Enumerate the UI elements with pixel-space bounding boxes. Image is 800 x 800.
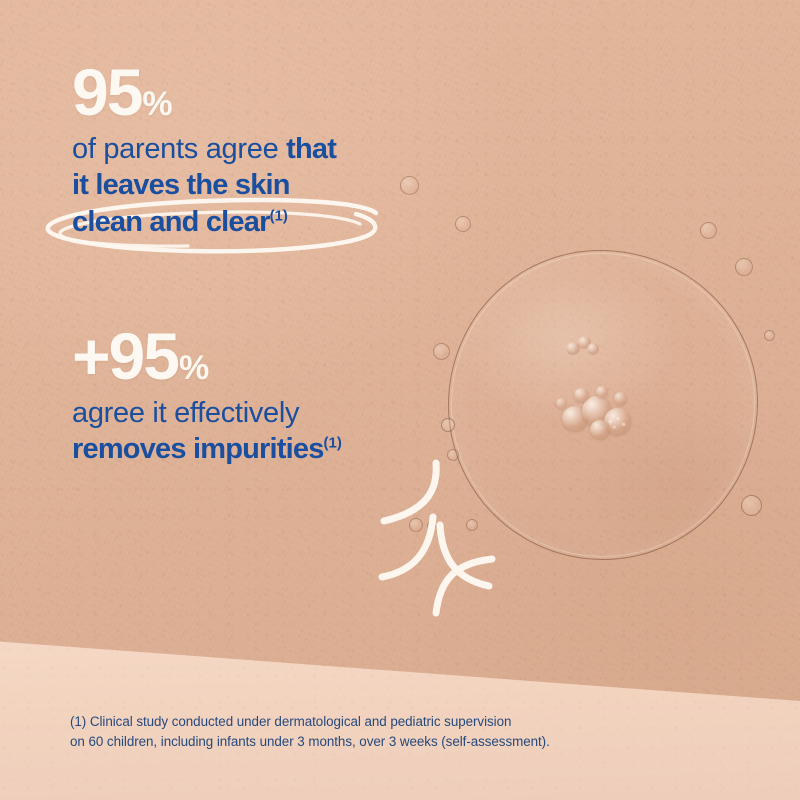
claim-2-line-1-regular: agree it effectively [72, 397, 299, 429]
bubble-icon [447, 449, 459, 461]
bubble-icon [455, 216, 471, 232]
foam-bubble-cluster-small [566, 336, 600, 358]
bubble-icon [409, 518, 423, 532]
claim-2-line-2-bold: removes impurities [72, 433, 324, 465]
claim-1-text: of parents agree that it leaves the skin… [72, 131, 336, 241]
claim-2-text: agree it effectively removes impurities(… [72, 395, 342, 468]
bubble-icon [466, 519, 478, 531]
claim-1-stat-percent: % [142, 89, 171, 120]
droplet-edge-bead-left [441, 418, 455, 432]
claim-2-footnote-marker: (1) [324, 435, 342, 452]
water-droplet [448, 250, 758, 560]
footnote: (1) Clinical study conducted under derma… [70, 712, 710, 753]
foam-bubble-cluster [556, 386, 642, 444]
claim-1-line-1-regular: of parents agree [72, 133, 286, 165]
bubble-icon [400, 176, 419, 195]
footnote-line-2: on 60 children, including infants under … [70, 732, 710, 752]
foam-micro-droplets [606, 416, 628, 430]
claim-1-line-1-bold: that [286, 133, 336, 165]
claim-2-statistic: +95 % [72, 326, 342, 387]
claim-2-line-2: removes impurities(1) [72, 431, 342, 468]
footnote-line-1: (1) Clinical study conducted under derma… [70, 712, 710, 732]
bubble-icon [433, 343, 450, 360]
bubble-icon [735, 258, 753, 276]
claim-2-stat-number: +95 [72, 326, 178, 387]
bubble-icon [427, 521, 436, 530]
bubble-icon [764, 330, 775, 341]
bubble-icon [700, 222, 717, 239]
droplet-edge-bead-right [741, 495, 762, 516]
claim-1-stat-number: 95 [72, 62, 141, 123]
claim-1-statistic: 95 % [72, 62, 336, 123]
claim-block-1: 95 % of parents agree that it leaves the… [72, 62, 336, 240]
claim-1-line-2: it leaves the skin [72, 167, 336, 204]
claim-block-2: +95 % agree it effectively removes impur… [72, 326, 342, 468]
claim-1-line-3: clean and clear(1) [72, 204, 336, 241]
claim-1-line-2-bold: it leaves the skin [72, 169, 290, 201]
claim-1-footnote-marker: (1) [270, 207, 288, 224]
claim-1-line-1: of parents agree that [72, 131, 336, 168]
promo-poster: 95 % of parents agree that it leaves the… [0, 0, 800, 800]
claim-2-line-1: agree it effectively [72, 395, 342, 432]
claim-1-line-3-bold: clean and clear [72, 206, 270, 238]
claim-2-stat-percent: % [179, 353, 208, 384]
